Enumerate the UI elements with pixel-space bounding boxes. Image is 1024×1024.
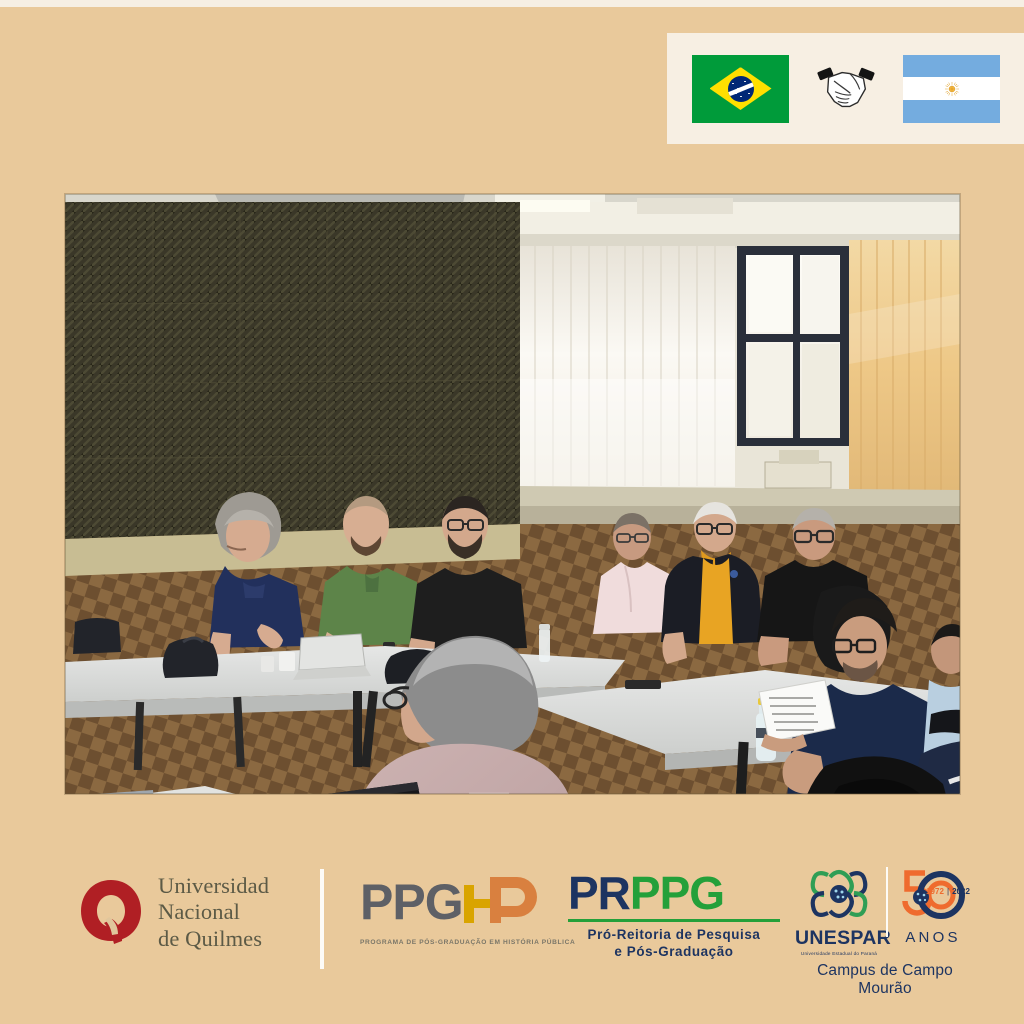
unq-line-1: Universidad (158, 873, 269, 899)
unq-wordmark: Universidad Nacional de Quilmes (158, 873, 269, 952)
unespar-wordmark: UNESPAR (795, 929, 883, 949)
unespar-divider (886, 867, 888, 937)
prppg-acronym: PRPPG (568, 870, 790, 916)
logo-prppg: PRPPG Pró-Reitoria de Pesquisa e Pós-Gra… (568, 870, 790, 961)
ppghp-mark-icon: PPG (360, 871, 560, 933)
ppghp-subtitle: PROGRAMA DE PÓS-GRADUAÇÃO EM HISTÓRIA PÚ… (360, 939, 560, 946)
svg-text:PPG: PPG (360, 874, 463, 930)
handshake-icon (815, 60, 877, 118)
prppg-pr: PR (568, 867, 630, 919)
unq-line-3: de Quilmes (158, 926, 269, 952)
svg-text:|: | (947, 887, 949, 896)
meeting-photo-illustration (65, 194, 960, 794)
argentina-flag (903, 55, 1000, 123)
poster-canvas: Universidad Nacional de Quilmes PPG PROG… (0, 0, 1024, 1024)
logo-ppghp: PPG PROGRAMA DE PÓS-GRADUAÇÃO EM HISTÓRI… (360, 871, 560, 946)
laptop-back (293, 634, 371, 680)
unespar-anos-label: ANOS (893, 929, 973, 946)
meeting-photo (65, 194, 960, 794)
unespar-campus-label: Campus de Campo Mourão (795, 962, 975, 998)
prppg-rule (568, 919, 780, 922)
sun-of-may-icon (944, 81, 959, 96)
unespar-subtitle: Universidade Estadual do Paraná (795, 951, 883, 956)
unespar-50-anos-icon: 1972 | 2022 (895, 865, 971, 923)
prppg-ppg: PPG (630, 867, 724, 919)
logo-universidad-nacional-de-quilmes: Universidad Nacional de Quilmes (78, 873, 269, 952)
unq-q-mark-icon (78, 877, 144, 947)
unq-line-2: Nacional (158, 899, 269, 925)
flags-banner (667, 33, 1024, 144)
brazil-flag (692, 55, 789, 123)
prppg-subtitle-line-1: Pró-Reitoria de Pesquisa (568, 926, 780, 944)
unespar-flower-icon (808, 865, 870, 923)
svg-text:2022: 2022 (952, 887, 970, 896)
svg-text:1972: 1972 (926, 887, 944, 896)
logo-divider (320, 869, 324, 969)
logo-unespar: UNESPAR Universidade Estadual do Paraná (795, 865, 975, 998)
prppg-subtitle-line-2: e Pós-Graduação (568, 943, 780, 961)
logos-row: Universidad Nacional de Quilmes PPG PROG… (0, 855, 1024, 985)
top-strip (0, 0, 1024, 7)
